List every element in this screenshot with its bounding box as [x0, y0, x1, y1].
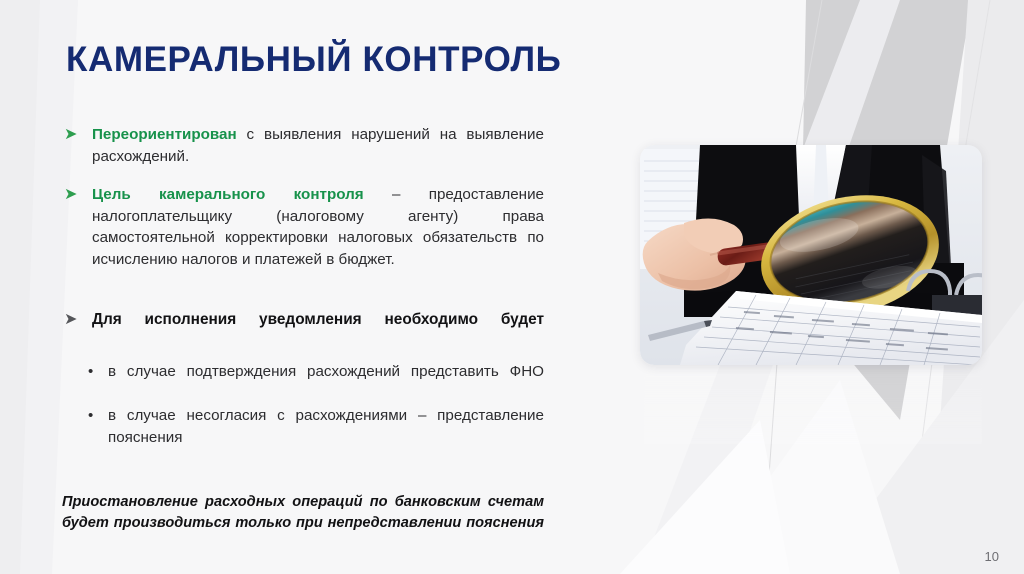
action-item-list: в случае подтверждения расхождений предс… — [62, 361, 544, 470]
arrow-right-icon: ➤ — [64, 184, 77, 205]
photo-container — [640, 145, 982, 365]
slide-body: ➤ Переориентирован с выявления нарушений… — [62, 124, 544, 555]
action-heading: Для исполнения уведомления необходимо бу… — [92, 309, 544, 352]
page-title: КАМЕРАЛЬНЫЙ КОНТРОЛЬ — [66, 40, 561, 80]
list-item-label: в случае несогласия с расхождениями – пр… — [108, 407, 544, 467]
footnote: Приостановление расходных операций по ба… — [62, 492, 544, 555]
list-item-label: в случае подтверждения расхождений предс… — [108, 363, 544, 402]
list-item: в случае несогласия с расхождениями – пр… — [62, 405, 544, 470]
page-number: 10 — [985, 549, 999, 564]
bullet-item: ➤ Переориентирован с выявления нарушений… — [62, 124, 544, 167]
magnifying-glass-over-documents-photo — [640, 145, 982, 365]
arrow-right-icon: ➤ — [64, 124, 77, 145]
action-heading-block: ➤ Для исполнения уведомления необходимо … — [62, 309, 544, 352]
spacer — [62, 287, 544, 309]
bullet-lead: Цель камерального контроля — [92, 186, 364, 203]
bullet-text: Переориентирован с выявления нарушений н… — [92, 124, 544, 167]
arrow-right-icon: ➤ — [64, 309, 77, 330]
bullet-text: Цель камерального контроля – предоставле… — [92, 184, 544, 270]
bullet-lead: Переориентирован — [92, 126, 237, 143]
bullet-item: ➤ Цель камерального контроля – предостав… — [62, 184, 544, 270]
list-item: в случае подтверждения расхождений предс… — [62, 361, 544, 404]
presentation-slide: КАМЕРАЛЬНЫЙ КОНТРОЛЬ ➤ Переориентирован … — [0, 0, 1024, 574]
footnote-text: Приостановление расходных операций по ба… — [62, 494, 544, 552]
photo-reflection — [644, 366, 982, 444]
